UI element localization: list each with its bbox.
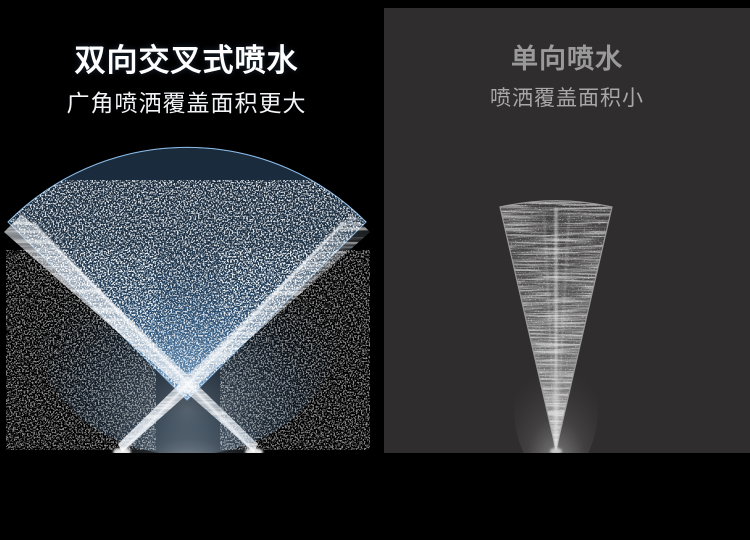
comparison-stage: 双向交叉式喷水 广角喷洒覆盖面积更大 xyxy=(0,0,750,540)
dual-cross-spray-panel: 双向交叉式喷水 广角喷洒覆盖面积更大 xyxy=(0,0,373,453)
dual-cross-spray-illustration xyxy=(0,0,373,453)
single-direction-spray-panel: 单向喷水 喷洒覆盖面积小 xyxy=(384,8,750,453)
single-spray-illustration xyxy=(384,8,750,453)
